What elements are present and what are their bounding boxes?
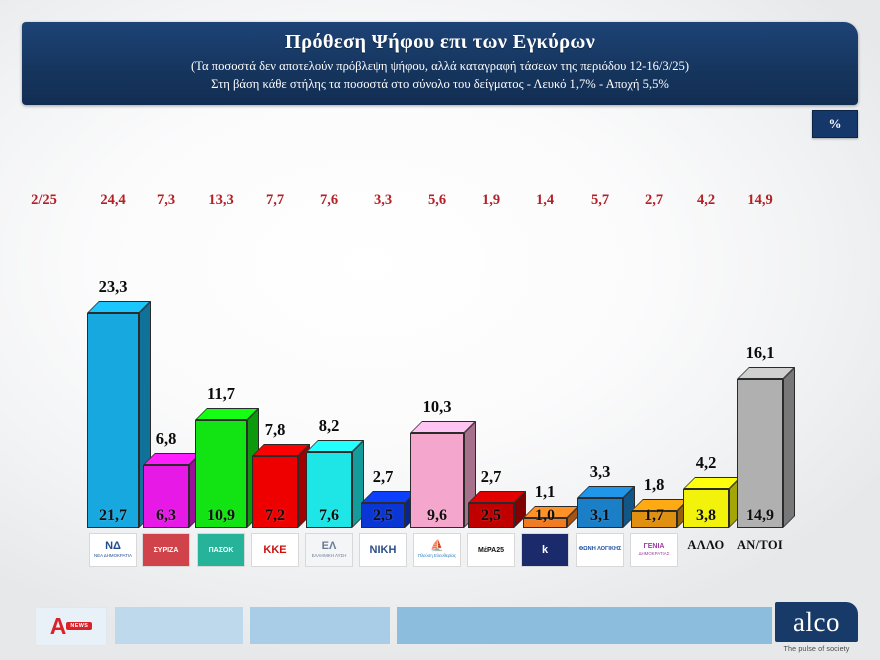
bar-column-κκε: 7,2	[252, 444, 310, 530]
nd-logo: ΝΔΝΕΑ ΔΗΜΟΚΡΑΤΙΑ	[89, 533, 137, 567]
kke-logo: ΚΚΕ	[251, 533, 299, 567]
bar-top-face	[683, 477, 741, 489]
bar-top-face	[523, 506, 579, 518]
bar-top-face	[195, 408, 259, 420]
bar-top-face	[631, 499, 689, 511]
bar-inner-value: 21,7	[99, 508, 127, 527]
category-text-label: ΑΛΛΟ	[668, 538, 744, 553]
logo-primary-text: ΦΩΝΗ ΛΟΓΙΚΗΣ	[579, 547, 622, 553]
logo-primary-text: ΠΑΣΟΚ	[209, 547, 234, 554]
percent-axis-badge: %	[812, 110, 858, 138]
bar-inner-value: 6,3	[156, 508, 176, 527]
bar-top-value: 1,8	[621, 477, 687, 494]
bar-top-value: 11,7	[185, 386, 257, 403]
bar-side-face	[189, 453, 201, 528]
logo-primary-text: ΓΕΝΙΑ	[644, 543, 665, 550]
page-title: Πρόθεση Ψήφου επι των Εγκύρων	[285, 31, 595, 55]
footer-block-2	[115, 607, 243, 644]
bar-front-face: 1,0	[523, 518, 567, 528]
bar-inner-value: 1,0	[535, 508, 555, 527]
bar-side-face	[298, 444, 310, 528]
plefsi-eleftherias-logo: ⛵Πλεύση Ελευθερίας	[413, 533, 461, 567]
logo-secondary-text: ΕΛΛΗΝΙΚΗ ΛΥΣΗ	[312, 554, 347, 558]
alpha-letter: A	[50, 617, 67, 637]
bar-column-κινημα-δημοκρατιας: 1,0	[523, 506, 579, 530]
bar-inner-value: 2,5	[481, 508, 501, 527]
bar-front-face: 6,3	[143, 465, 189, 528]
bar-inner-value: 9,6	[427, 508, 447, 527]
bar-column-ελληνικη-λυση: 7,6	[306, 440, 364, 530]
bar-top-face	[143, 453, 201, 465]
bar-top-face	[577, 486, 635, 498]
alco-logo: alco	[775, 602, 858, 642]
bar-column-συριζα: 6,3	[143, 453, 201, 530]
bar-side-face	[729, 477, 741, 528]
bar-column-πασοκ: 10,9	[195, 408, 259, 530]
logo-primary-text: ΝΙΚΗ	[370, 545, 397, 556]
bar-side-face	[567, 506, 579, 528]
bar-top-value: 8,2	[296, 418, 362, 435]
previous-value-αν-τοι: 14,9	[723, 192, 797, 209]
subtitle-line-2: Στη βάση κάθε στήλης τα ποσοστά στο σύνο…	[211, 76, 669, 94]
bar-inner-value: 3,8	[696, 508, 716, 527]
bar-top-value: 16,1	[727, 345, 793, 362]
bar-top-value: 3,3	[567, 464, 633, 481]
alco-tagline: The pulse of society	[775, 644, 858, 653]
mera25-logo: ΜέΡΑ25	[467, 533, 515, 567]
title-panel: Πρόθεση Ψήφου επι των Εγκύρων (Τα ποσοστ…	[22, 22, 858, 105]
bar-inner-value: 7,6	[319, 508, 339, 527]
bar-column-νδ: 21,7	[87, 301, 151, 530]
bar-top-face	[252, 444, 310, 456]
logo-primary-text: ΜέΡΑ25	[478, 547, 504, 554]
bar-column-φωνη-λογικης: 3,1	[577, 486, 635, 530]
bar-inner-value: 1,7	[644, 508, 664, 527]
bar-front-face: 3,1	[577, 498, 623, 528]
alpha-news-label: NEWS	[66, 622, 92, 630]
bar-column-μέρα25: 2,5	[468, 491, 526, 530]
logo-primary-text: ΕΛ	[322, 541, 337, 552]
bar-side-face	[514, 491, 526, 528]
genia-dimokratias-logo: ΓΕΝΙΑΔΗΜΟΚΡΑΤΙΑΣ	[630, 533, 678, 567]
bar-top-face	[361, 491, 417, 503]
bar-top-value: 10,3	[400, 399, 474, 416]
niki-logo: ΝΙΚΗ	[359, 533, 407, 567]
bar-top-face	[737, 367, 795, 379]
foni-logikis-logo: ΦΩΝΗ ΛΟΓΙΚΗΣ	[576, 533, 624, 567]
bar-front-face: 21,7	[87, 313, 139, 528]
previous-row-period-label: 2/25	[14, 192, 74, 209]
bar-front-face: 1,7	[631, 511, 677, 528]
bar-top-face	[410, 421, 476, 433]
previous-measurement-row: 24,47,313,37,77,63,35,61,91,45,72,74,214…	[0, 192, 880, 214]
bar-side-face	[139, 301, 151, 528]
bar-top-face	[468, 491, 526, 503]
kinima-dimokratias-logo: k	[521, 533, 569, 567]
bar-front-face: 7,6	[306, 452, 352, 528]
elliniki-lysi-logo: ΕΛΕΛΛΗΝΙΚΗ ΛΥΣΗ	[305, 533, 353, 567]
bar-top-value: 2,7	[458, 469, 524, 486]
bar-top-value: 6,8	[133, 431, 199, 448]
logo-primary-text: ΣΥΡΙΖΑ	[154, 547, 179, 554]
logo-secondary-text: ΔΗΜΟΚΡΑΤΙΑΣ	[639, 552, 670, 556]
logo-primary-text: ⛵	[430, 541, 444, 552]
bar-top-value: 1,1	[513, 484, 577, 501]
bar-inner-value: 10,9	[207, 508, 235, 527]
pasok-logo: ΠΑΣΟΚ	[197, 533, 245, 567]
bar-front-face: 14,9	[737, 379, 783, 528]
bar-front-face: 2,5	[361, 503, 405, 528]
bar-top-face	[306, 440, 364, 452]
logo-primary-text: ΚΚΕ	[263, 545, 286, 556]
footer-block-4	[397, 607, 772, 644]
bar-side-face	[677, 499, 689, 528]
bar-top-value: 7,8	[242, 422, 308, 439]
bar-side-face	[405, 491, 417, 528]
category-text-label: ΑΝ/ΤΟΙ	[722, 538, 798, 553]
bar-front-face: 10,9	[195, 420, 247, 528]
bar-column-πλευση-ελευθεριας: 9,6	[410, 421, 476, 530]
bar-top-value: 23,3	[77, 279, 149, 296]
logo-primary-text: ΝΔ	[105, 541, 121, 552]
alpha-news-logo: A NEWS	[35, 607, 107, 646]
bar-side-face	[783, 367, 795, 528]
logo-secondary-text: ΝΕΑ ΔΗΜΟΚΡΑΤΙΑ	[94, 554, 132, 558]
logo-secondary-text: Πλεύση Ελευθερίας	[418, 554, 456, 558]
bar-column-νικη: 2,5	[361, 491, 417, 530]
bar-side-face	[464, 421, 476, 528]
bar-inner-value: 14,9	[746, 508, 774, 527]
bar-column-γενια-δημοκρατιας: 1,7	[631, 499, 689, 530]
bar-front-face: 7,2	[252, 456, 298, 528]
bar-inner-value: 3,1	[590, 508, 610, 527]
footer-bar: A NEWS alco The pulse of society	[0, 594, 880, 660]
bar-side-face	[247, 408, 259, 528]
bar-front-face: 9,6	[410, 433, 464, 528]
logo-primary-text: k	[542, 545, 548, 556]
bar-column-αλλο: 3,8	[683, 477, 741, 530]
subtitle-line-1: (Τα ποσοστά δεν αποτελούν πρόβλεψη ψήφου…	[191, 58, 689, 76]
syriza-logo: ΣΥΡΙΖΑ	[142, 533, 190, 567]
bar-column-αν-τοι: 14,9	[737, 367, 795, 530]
bar-top-value: 4,2	[673, 455, 739, 472]
bar-top-face	[87, 301, 151, 313]
bar-front-face: 2,5	[468, 503, 514, 528]
bar-side-face	[623, 486, 635, 528]
bar-inner-value: 2,5	[373, 508, 393, 527]
footer-block-3	[250, 607, 390, 644]
bar-top-value: 2,7	[351, 469, 415, 486]
bar-side-face	[352, 440, 364, 528]
bar-inner-value: 7,2	[265, 508, 285, 527]
bar-front-face: 3,8	[683, 489, 729, 528]
